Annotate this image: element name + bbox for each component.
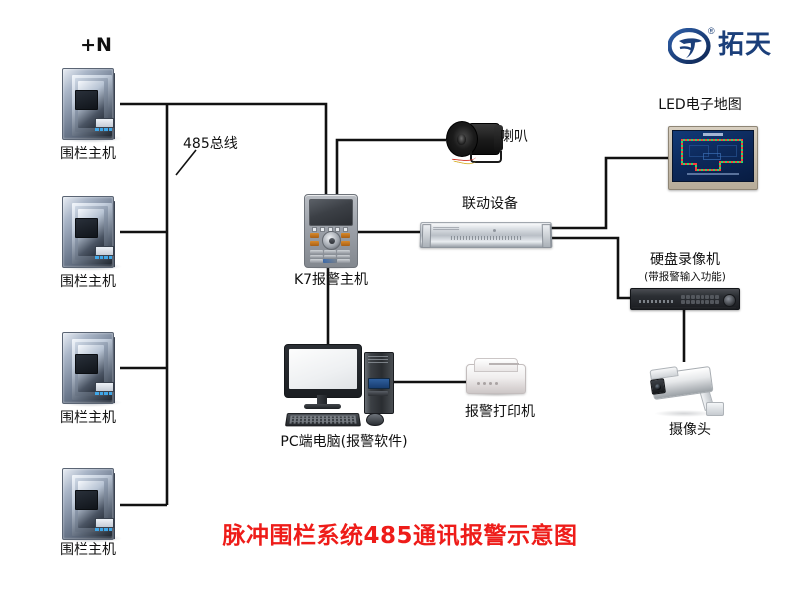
trademark-symbol: ®: [708, 26, 715, 36]
fence-host-2-label: 围栏主机: [28, 274, 148, 290]
keypad-screen: [309, 199, 353, 226]
rack-ear-right: [542, 224, 552, 248]
rack-label: [433, 227, 459, 231]
brand-name: 拓天: [718, 32, 772, 58]
tower-panel: [368, 391, 388, 396]
led-map-icon[interactable]: [668, 126, 756, 188]
fence-host-1-label: 围栏主机: [28, 146, 148, 162]
function-key[interactable]: [310, 241, 319, 246]
keypad-brand-mark: [323, 259, 337, 263]
horn-speaker-label: 喇叭: [500, 129, 570, 145]
dvr-front-keys[interactable]: [681, 295, 719, 304]
control-panel: [75, 490, 98, 510]
dvr-sublabel: (带报警输入功能): [600, 271, 770, 283]
printer-buttons[interactable]: [477, 382, 503, 385]
diagram-canvas: ® 拓天 +N 485总线 围栏主机: [0, 0, 800, 600]
control-panel: [75, 90, 98, 110]
function-key[interactable]: [310, 233, 319, 238]
mouse[interactable]: [366, 413, 384, 426]
bus-label: 485总线: [183, 133, 238, 153]
desktop-computer-icon[interactable]: [284, 344, 402, 428]
camera-lens: [650, 378, 666, 395]
lcd-display: [95, 118, 114, 128]
map-led-run-top: [681, 139, 743, 141]
status-leds: [95, 128, 112, 131]
status-leds: [95, 256, 112, 259]
control-panel: [75, 218, 98, 238]
map-footer-bar: [687, 173, 739, 175]
rack-vent: [451, 236, 523, 240]
printer-lid: [474, 358, 518, 372]
device-shadow: [654, 410, 714, 417]
alarm-keypad-icon[interactable]: [304, 194, 358, 270]
rack-ear-left: [422, 224, 432, 248]
monitor-screen: [289, 349, 357, 389]
keyboard[interactable]: [285, 413, 361, 426]
dvr-base: [632, 307, 736, 310]
dvr-jog-dial[interactable]: [723, 294, 736, 307]
rack-indicator: [493, 229, 496, 232]
tuotian-logo-icon: [668, 28, 712, 64]
function-key[interactable]: [341, 233, 350, 238]
dvr-icon[interactable]: [630, 288, 738, 312]
map-led-run-left: [681, 139, 683, 165]
printer-icon[interactable]: [466, 356, 528, 398]
status-leds: [95, 392, 112, 395]
lcd-display: [95, 382, 114, 392]
led-map-label: LED电子地图: [620, 97, 780, 113]
rack-body: [420, 222, 553, 248]
fence-host-icon[interactable]: [58, 194, 120, 272]
tower-vent: [368, 356, 388, 364]
rack-unit-icon[interactable]: [420, 222, 550, 248]
tower-drive-bay: [368, 378, 390, 389]
fence-host-icon[interactable]: [58, 330, 120, 408]
control-panel: [75, 354, 98, 374]
map-led-run-bottom-right: [719, 161, 743, 163]
paper-slot: [489, 363, 519, 365]
monitor-stand-base: [304, 404, 341, 409]
diagram-title: 脉冲围栏系统485通讯报警示意图: [0, 516, 800, 550]
camera-label: 摄像头: [630, 422, 750, 438]
monitor: [284, 344, 362, 398]
map-header-bar: [703, 133, 723, 136]
lcd-display: [95, 246, 114, 256]
camera-mount: [706, 402, 724, 416]
function-key[interactable]: [341, 241, 350, 246]
printer-label: 报警打印机: [440, 404, 560, 420]
map-led-run-right: [741, 139, 743, 161]
dvr-label: 硬盘录像机: [600, 252, 770, 268]
map-face: [672, 130, 754, 182]
linkage-device-label: 联动设备: [400, 196, 580, 212]
navigation-pad[interactable]: [322, 231, 341, 250]
keypad-indicators: [312, 227, 348, 230]
dvr-brand-text: [639, 300, 673, 303]
brand-logo: ® 拓天: [668, 26, 790, 68]
k7-alarm-host-label: K7报警主机: [276, 272, 386, 288]
expansion-label: +N: [66, 34, 126, 56]
cctv-camera-icon[interactable]: [646, 362, 732, 420]
fence-host-icon[interactable]: [58, 66, 120, 144]
fence-host-3-label: 围栏主机: [28, 410, 148, 426]
pc-label: PC端电脑(报警软件): [244, 434, 444, 450]
map-center-block: [703, 153, 721, 160]
map-led-run-bottom-mid: [695, 169, 721, 171]
